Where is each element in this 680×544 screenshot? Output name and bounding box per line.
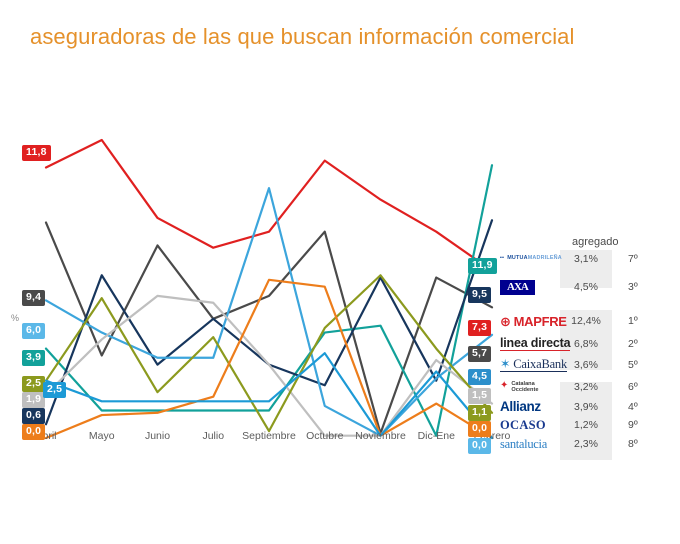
value-badge: 0,0 — [468, 421, 491, 437]
series-line — [46, 140, 492, 271]
value-badge: 4,5 — [468, 369, 491, 385]
x-axis-tick: Mayo — [89, 430, 115, 442]
legend-item-axa[interactable]: AXA — [500, 278, 535, 296]
catalana-line1: Catalana — [511, 381, 534, 387]
value-badge: 7,3 — [468, 320, 491, 336]
value-badge: 1,9 — [22, 392, 45, 408]
agregado-rank: 7º — [628, 250, 654, 268]
caixabank-logo: ✶CaixaBank — [500, 358, 567, 372]
linea-directa-logo: linea directa — [500, 337, 570, 351]
value-badge: 1,5 — [468, 388, 491, 404]
caixabank-star-icon: ✶ — [500, 358, 510, 371]
x-axis-tick: Dic-Ene — [418, 430, 455, 442]
legend-item-ocaso[interactable]: OCASO — [500, 416, 546, 434]
agregado-rank: 5º — [628, 356, 654, 374]
series-line — [46, 275, 492, 431]
agregado-rank: 3º — [628, 278, 654, 296]
ocaso-logo: OCASO — [500, 419, 546, 432]
mapfre-mark-icon: ⊕ — [500, 315, 511, 328]
agregado-rank: 1º — [628, 312, 654, 330]
series-line — [46, 165, 492, 435]
brand-legend: ▪▪MUTUAMADRILEÑAAXA⊕MAPFRElinea directa✶… — [500, 250, 595, 445]
value-badge: 0,0 — [468, 438, 491, 454]
value-badge: 6,0 — [22, 323, 45, 339]
x-axis-tick: Julio — [202, 430, 224, 442]
value-badge: 3,9 — [22, 350, 45, 366]
agregado-rank: 4º — [628, 398, 654, 416]
legend-item-caixabank[interactable]: ✶CaixaBank — [500, 356, 567, 374]
value-badge: 5,7 — [468, 346, 491, 362]
catalana-mark-icon: ✦ — [500, 383, 508, 389]
value-badge: 11,8 — [22, 145, 51, 161]
page-title: aseguradoras de las que buscan informaci… — [30, 22, 590, 52]
x-axis-tick: Octubre — [306, 430, 343, 442]
mutua-mark-icon: ▪▪ — [500, 256, 504, 261]
x-axis-tick: Noviembre — [355, 430, 406, 442]
value-badge: 9,5 — [468, 287, 491, 303]
legend-item-catalana[interactable]: ✦CatalanaOccidente — [500, 378, 538, 396]
value-badge: 0,6 — [22, 408, 45, 424]
catalana-occidente-logo: ✦CatalanaOccidente — [500, 381, 538, 394]
allianz-logo: Allianz — [500, 400, 541, 414]
agregado-header: agregado — [572, 236, 619, 248]
value-badge: 0,0 — [22, 424, 45, 440]
agregado-rank: 6º — [628, 378, 654, 396]
catalana-line2: Occidente — [511, 387, 538, 393]
value-badge: 2,5 — [22, 376, 45, 392]
value-badge: 2,5 — [43, 382, 66, 398]
santalucia-logo: santalucia — [500, 438, 547, 451]
x-axis: AbrilMayoJunioJulioSeptiembreOctubreNovi… — [0, 430, 540, 448]
value-badge: 11,9 — [468, 258, 497, 274]
legend-item-santalucia[interactable]: santalucia — [500, 435, 547, 453]
agregado-rank: 2º — [628, 335, 654, 353]
value-badge: 1,1 — [468, 405, 491, 421]
legend-item-allianz[interactable]: Allianz — [500, 398, 541, 416]
series-line — [46, 220, 492, 424]
x-axis-tick: Junio — [145, 430, 170, 442]
axa-logo: AXA — [500, 280, 535, 295]
x-axis-tick: Septiembre — [242, 430, 296, 442]
legend-item-ld[interactable]: linea directa — [500, 335, 570, 353]
y-axis-unit-label: % — [11, 313, 19, 323]
agregado-rank: 8º — [628, 435, 654, 453]
legend-item-mapfre[interactable]: ⊕MAPFRE — [500, 312, 567, 330]
value-badge: 9,4 — [22, 290, 45, 306]
mutua-madrilena-logo: ▪▪MUTUAMADRILEÑA — [500, 256, 562, 261]
slide-canvas: aseguradoras de las que buscan informaci… — [0, 0, 680, 544]
legend-item-mutua[interactable]: ▪▪MUTUAMADRILEÑA — [500, 250, 562, 268]
mapfre-logo: ⊕MAPFRE — [500, 315, 567, 328]
agregado-rank: 9º — [628, 416, 654, 434]
